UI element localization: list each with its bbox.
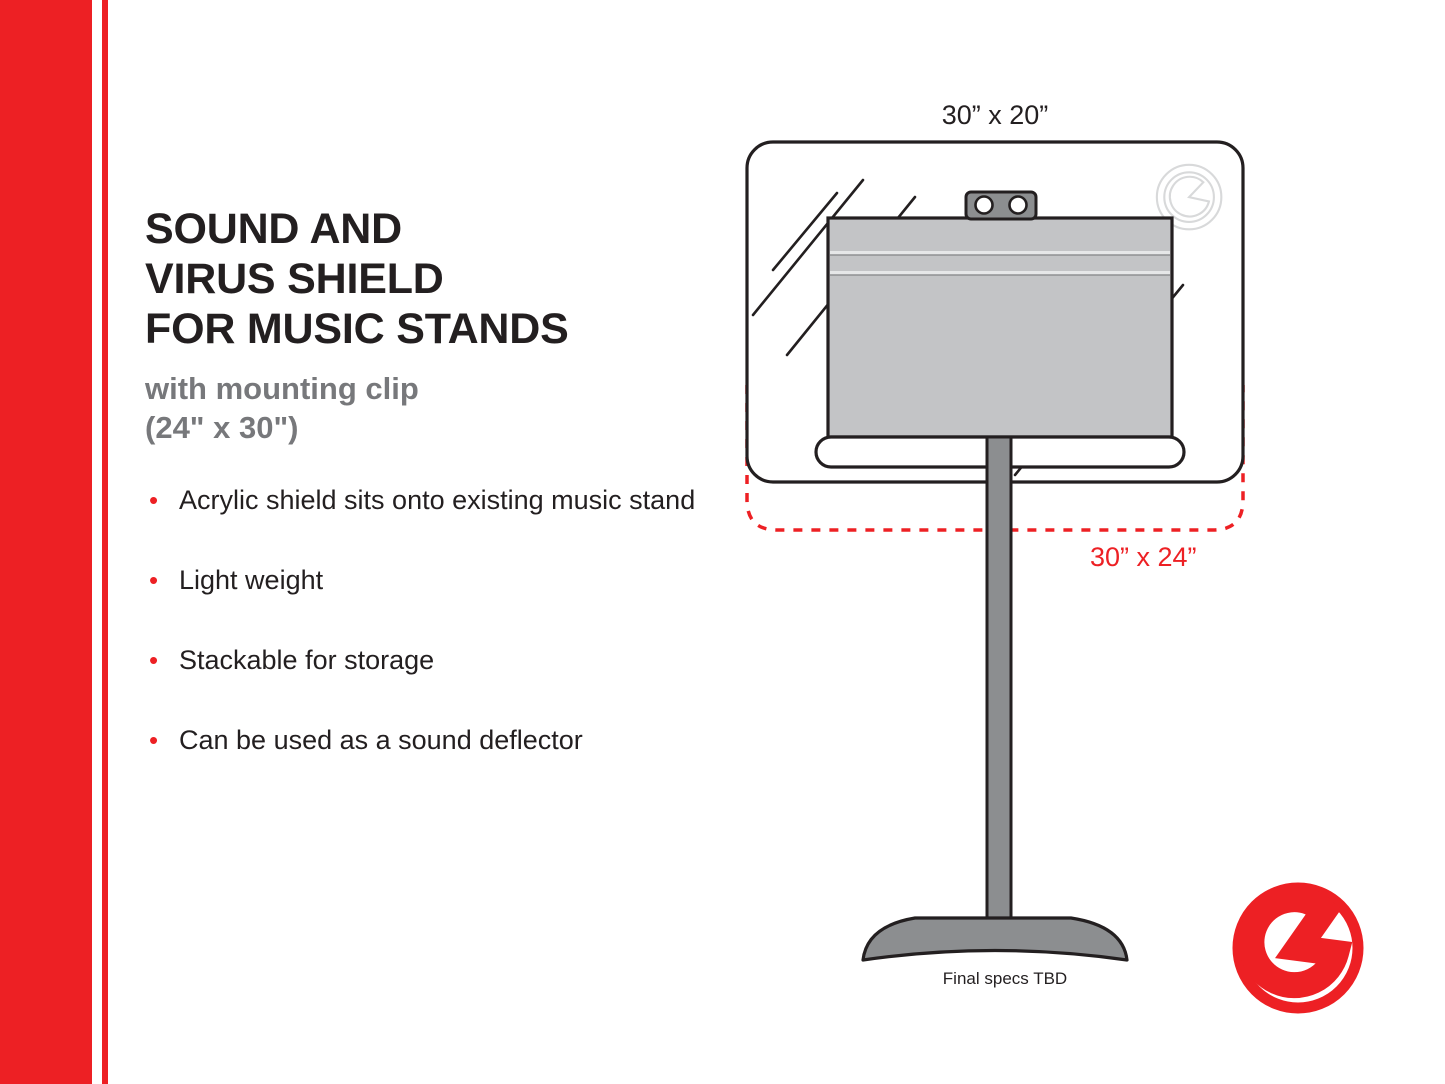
headline-line-3: FOR MUSIC STANDS [145, 305, 735, 355]
page-subtitle: with mounting clip (24" x 30") [145, 369, 735, 448]
bullet-dot-icon: • [145, 643, 179, 677]
list-item-label: Light weight [179, 563, 745, 597]
bullet-dot-icon: • [145, 723, 179, 757]
clip-screw-hole-right [1010, 197, 1027, 214]
title-block: SOUND AND VIRUS SHIELD FOR MUSIC STANDS … [145, 205, 735, 448]
list-item-label: Can be used as a sound deflector [179, 723, 745, 757]
clip-screw-hole-left [976, 197, 993, 214]
red-accent-bar-thin [102, 0, 108, 1084]
diagram-footnote: Final specs TBD [880, 969, 1130, 989]
bullet-dot-icon: • [145, 483, 179, 517]
music-stand-desk [828, 218, 1172, 437]
subtitle-line-2: (24" x 30") [145, 408, 735, 448]
feature-list: • Acrylic shield sits onto existing musi… [145, 483, 745, 757]
stand-pole [987, 437, 1011, 948]
footprint-dimension-label: 30” x 24” [1090, 542, 1197, 573]
page-title: SOUND AND VIRUS SHIELD FOR MUSIC STANDS [145, 205, 735, 355]
bullet-dot-icon: • [145, 563, 179, 597]
shield-dimension-label: 30” x 20” [905, 100, 1085, 131]
headline-line-1: SOUND AND [145, 205, 735, 255]
slide-root: SOUND AND VIRUS SHIELD FOR MUSIC STANDS … [0, 0, 1445, 1084]
list-item-label: Acrylic shield sits onto existing music … [179, 483, 745, 517]
list-item: • Acrylic shield sits onto existing musi… [145, 483, 745, 517]
subtitle-line-1: with mounting clip [145, 369, 735, 409]
product-illustration [715, 85, 1295, 1015]
brand-logo [1228, 878, 1368, 1018]
list-item: • Can be used as a sound deflector [145, 723, 745, 757]
list-item-label: Stackable for storage [179, 643, 745, 677]
gator-g-logo-icon [1228, 878, 1368, 1018]
headline-line-2: VIRUS SHIELD [145, 255, 735, 305]
mounting-clip [966, 192, 1036, 219]
red-accent-bar-wide [0, 0, 92, 1084]
stand-base [863, 918, 1127, 960]
list-item: • Light weight [145, 563, 745, 597]
list-item: • Stackable for storage [145, 643, 745, 677]
